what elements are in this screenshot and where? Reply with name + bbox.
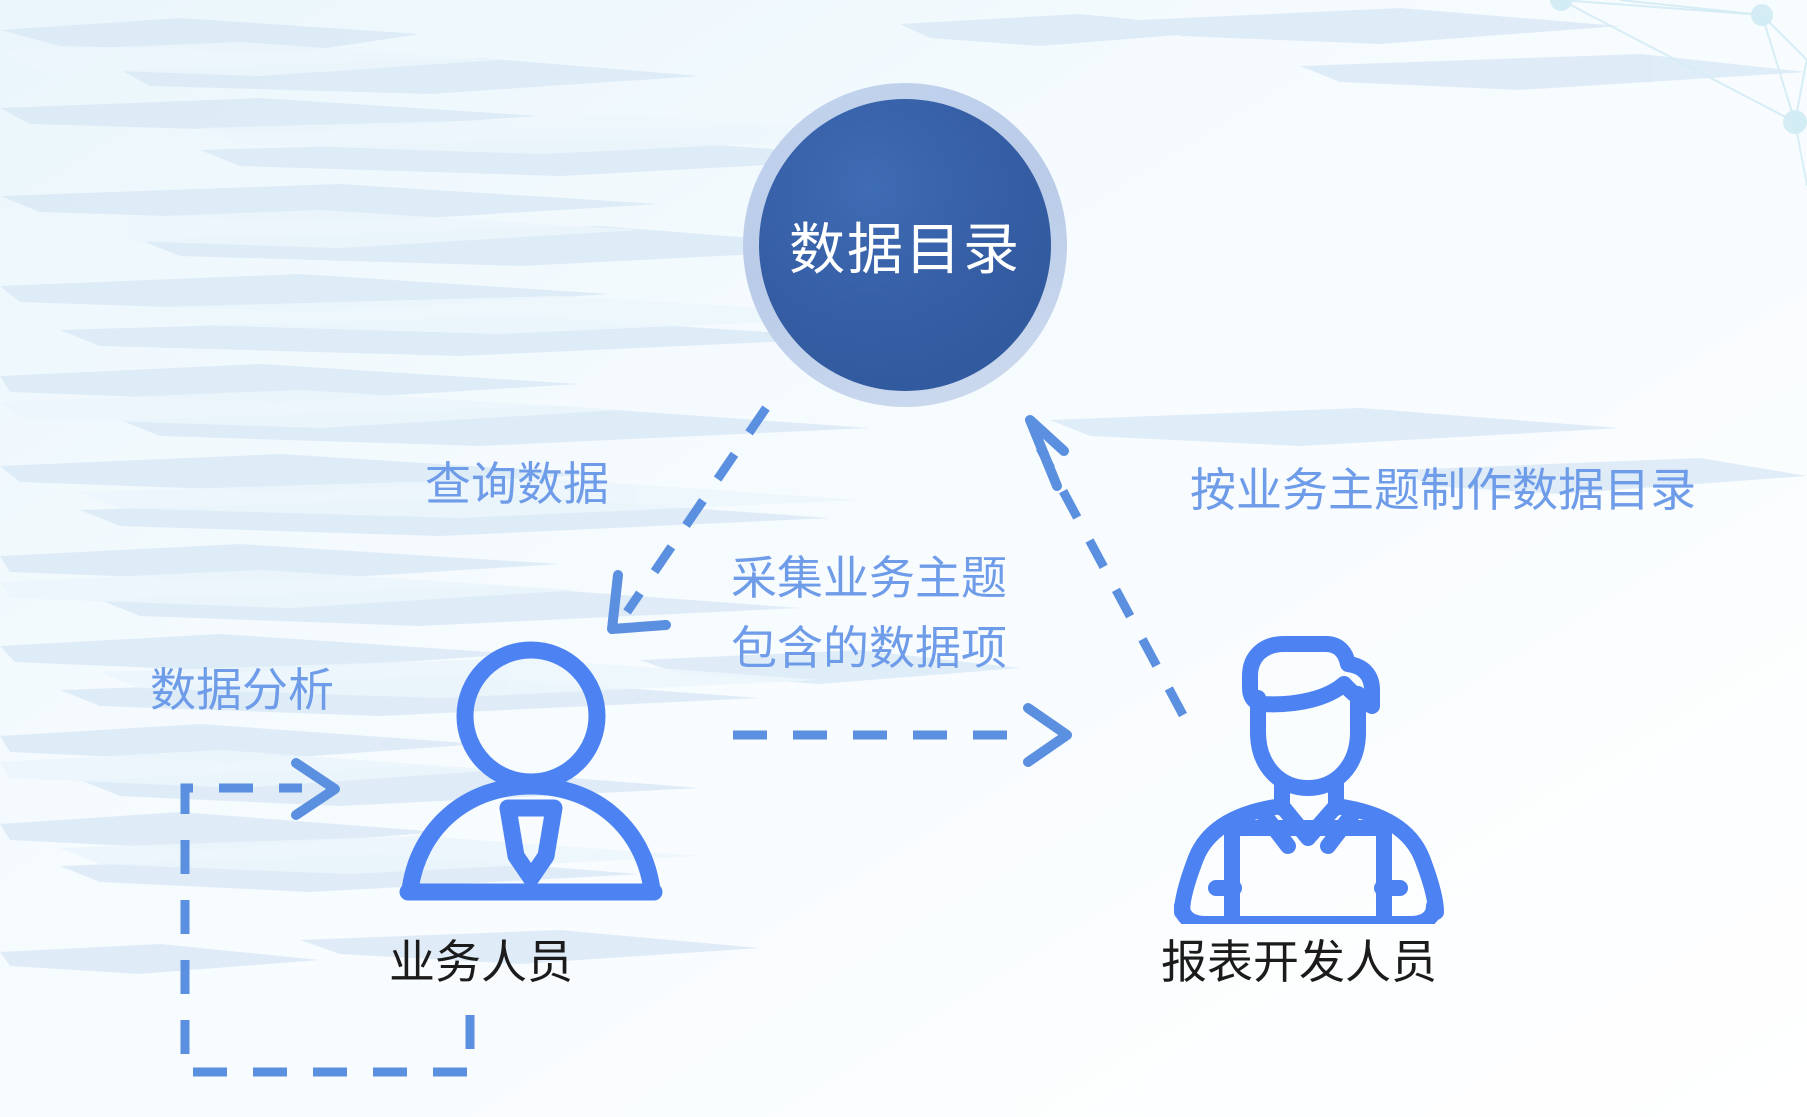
developer-laptop-icon[interactable] [1158,606,1458,924]
diagram-canvas: 数据目录 查询数据 采集业务主题 包含的数据项 按业务主题制作数据目录 数据分析 [0,0,1807,1117]
node-core: 数据目录 [759,99,1051,391]
edge-label-build-catalog: 按业务主题制作数据目录 [1190,462,1696,518]
edge-label-data-analysis: 数据分析 [150,662,334,718]
data-catalog-node[interactable]: 数据目录 [743,83,1067,407]
edge-collect-items [733,708,1067,762]
edge-label-collect-items-line1: 采集业务主题 [731,550,1007,606]
edge-label-query-data: 查询数据 [425,456,609,512]
actor-name-business-user: 业务人员 [389,926,573,992]
edge-label-collect-items-line2: 包含的数据项 [731,620,1007,676]
actor-name-report-developer: 报表开发人员 [1161,926,1437,992]
business-person-icon[interactable] [396,640,666,920]
data-catalog-label: 数据目录 [789,205,1021,286]
